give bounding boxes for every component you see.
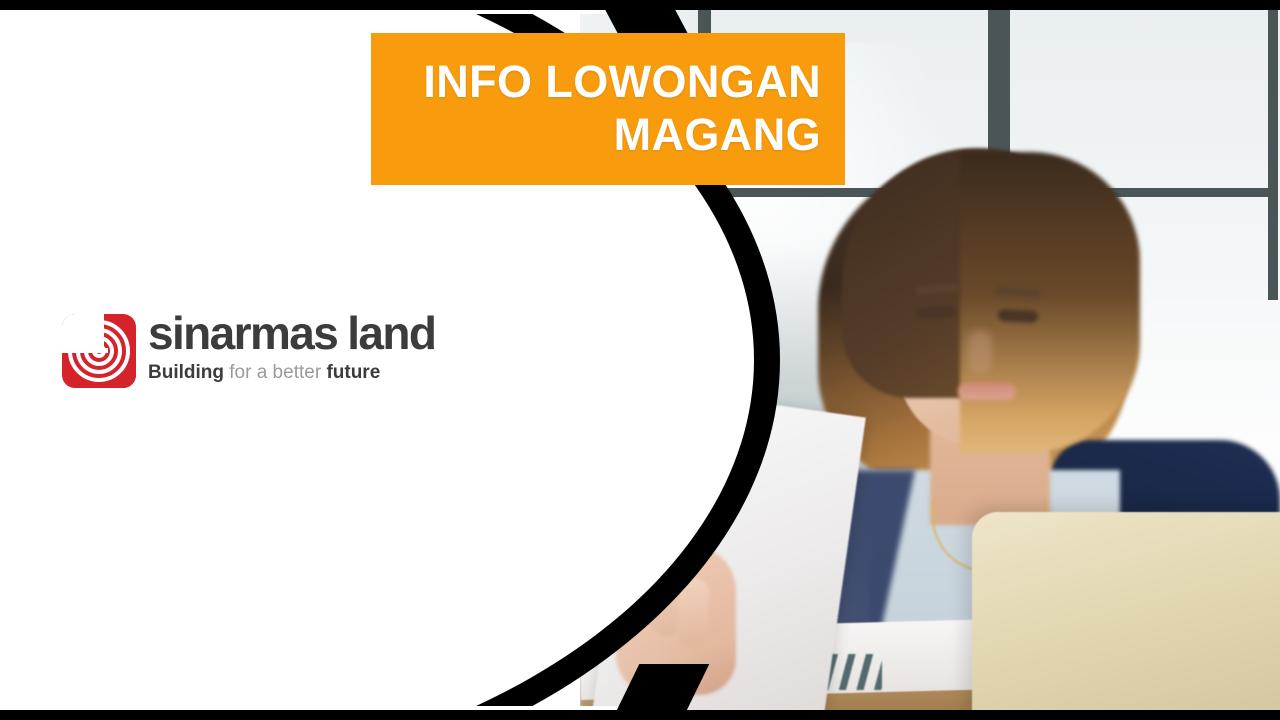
logo-tagline-regular: for a better bbox=[224, 362, 326, 383]
headline-line-1: INFO LOWONGAN bbox=[423, 56, 821, 109]
letterbox-bottom bbox=[0, 710, 1280, 720]
headline-line-2: MAGANG bbox=[423, 109, 821, 162]
sinarmas-land-logo: sinarmasland Building for a better futur… bbox=[62, 310, 435, 388]
logo-wordmark-secondary: land bbox=[347, 307, 435, 359]
headline-banner: INFO LOWONGAN MAGANG bbox=[371, 33, 845, 185]
swirl-bar bbox=[62, 348, 108, 353]
logo-wordmark-primary: sinarmas bbox=[148, 307, 337, 359]
window-mullion-vertical bbox=[1268, 0, 1278, 300]
laptop bbox=[972, 512, 1280, 720]
logo-wordmark: sinarmasland bbox=[148, 310, 435, 356]
headline-text: INFO LOWONGAN MAGANG bbox=[423, 56, 821, 161]
letterbox-top bbox=[0, 0, 1280, 10]
person-hair-side bbox=[960, 152, 1140, 452]
logo-tagline-bold-end: future bbox=[326, 362, 380, 383]
person-lips bbox=[958, 383, 1016, 400]
logo-tagline-bold-start: Building bbox=[148, 362, 224, 383]
person-nose bbox=[968, 330, 992, 374]
logo-tagline: Building for a better future bbox=[148, 363, 435, 382]
poster-canvas: sinarmasland Building for a better futur… bbox=[0, 0, 1280, 720]
sinarmas-swirl-icon bbox=[62, 314, 136, 388]
person-eye bbox=[998, 309, 1039, 323]
logo-text-block: sinarmasland Building for a better futur… bbox=[148, 310, 435, 382]
